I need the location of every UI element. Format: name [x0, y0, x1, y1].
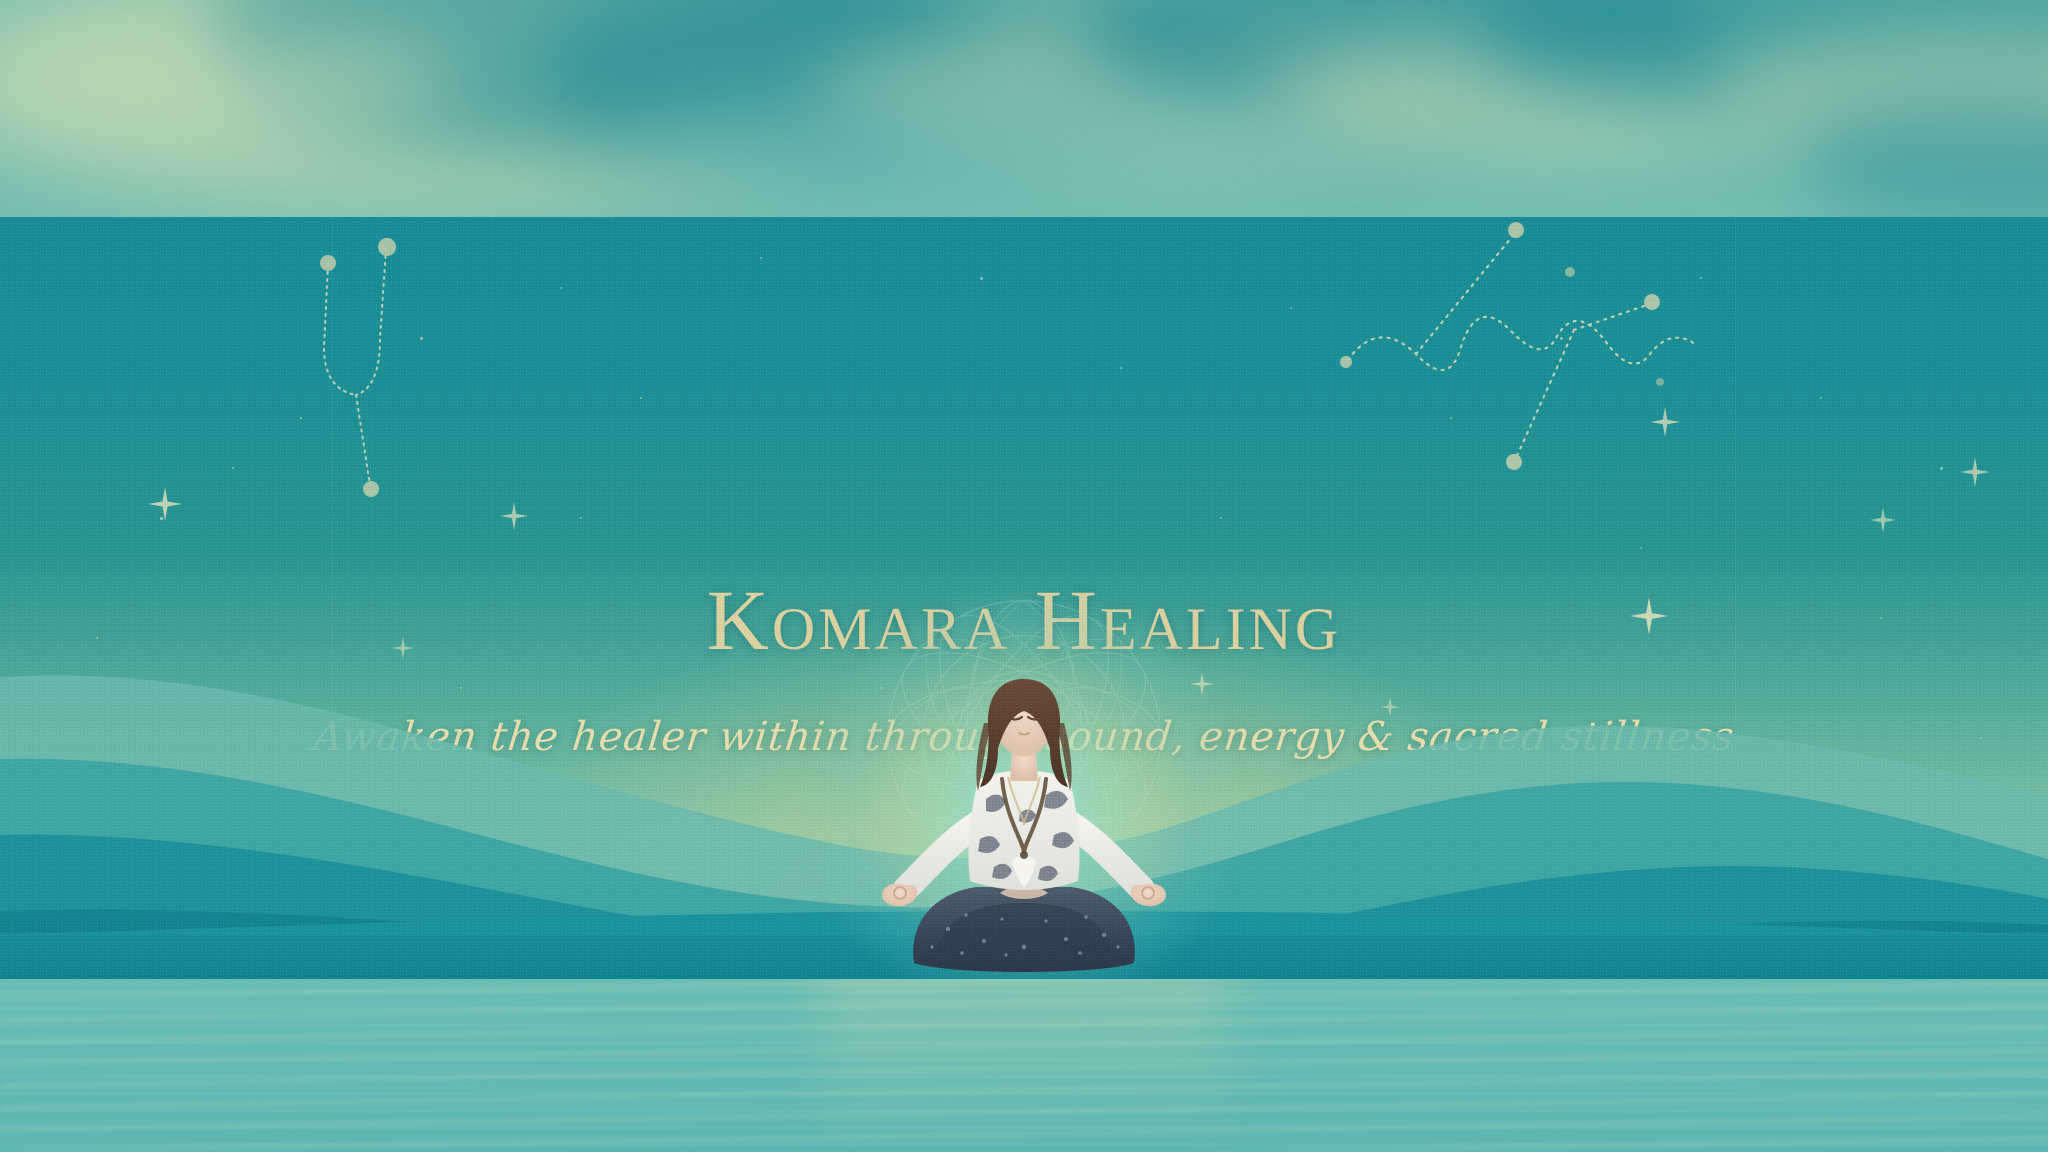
cloud-shape — [0, 24, 451, 132]
banner-panel: Komara Healing Awaken the healer within … — [0, 217, 2048, 979]
cloud-shape — [614, 84, 1351, 216]
banner-grain — [0, 217, 2048, 979]
hero-banner-stage: Komara Healing Awaken the healer within … — [0, 0, 2048, 1152]
